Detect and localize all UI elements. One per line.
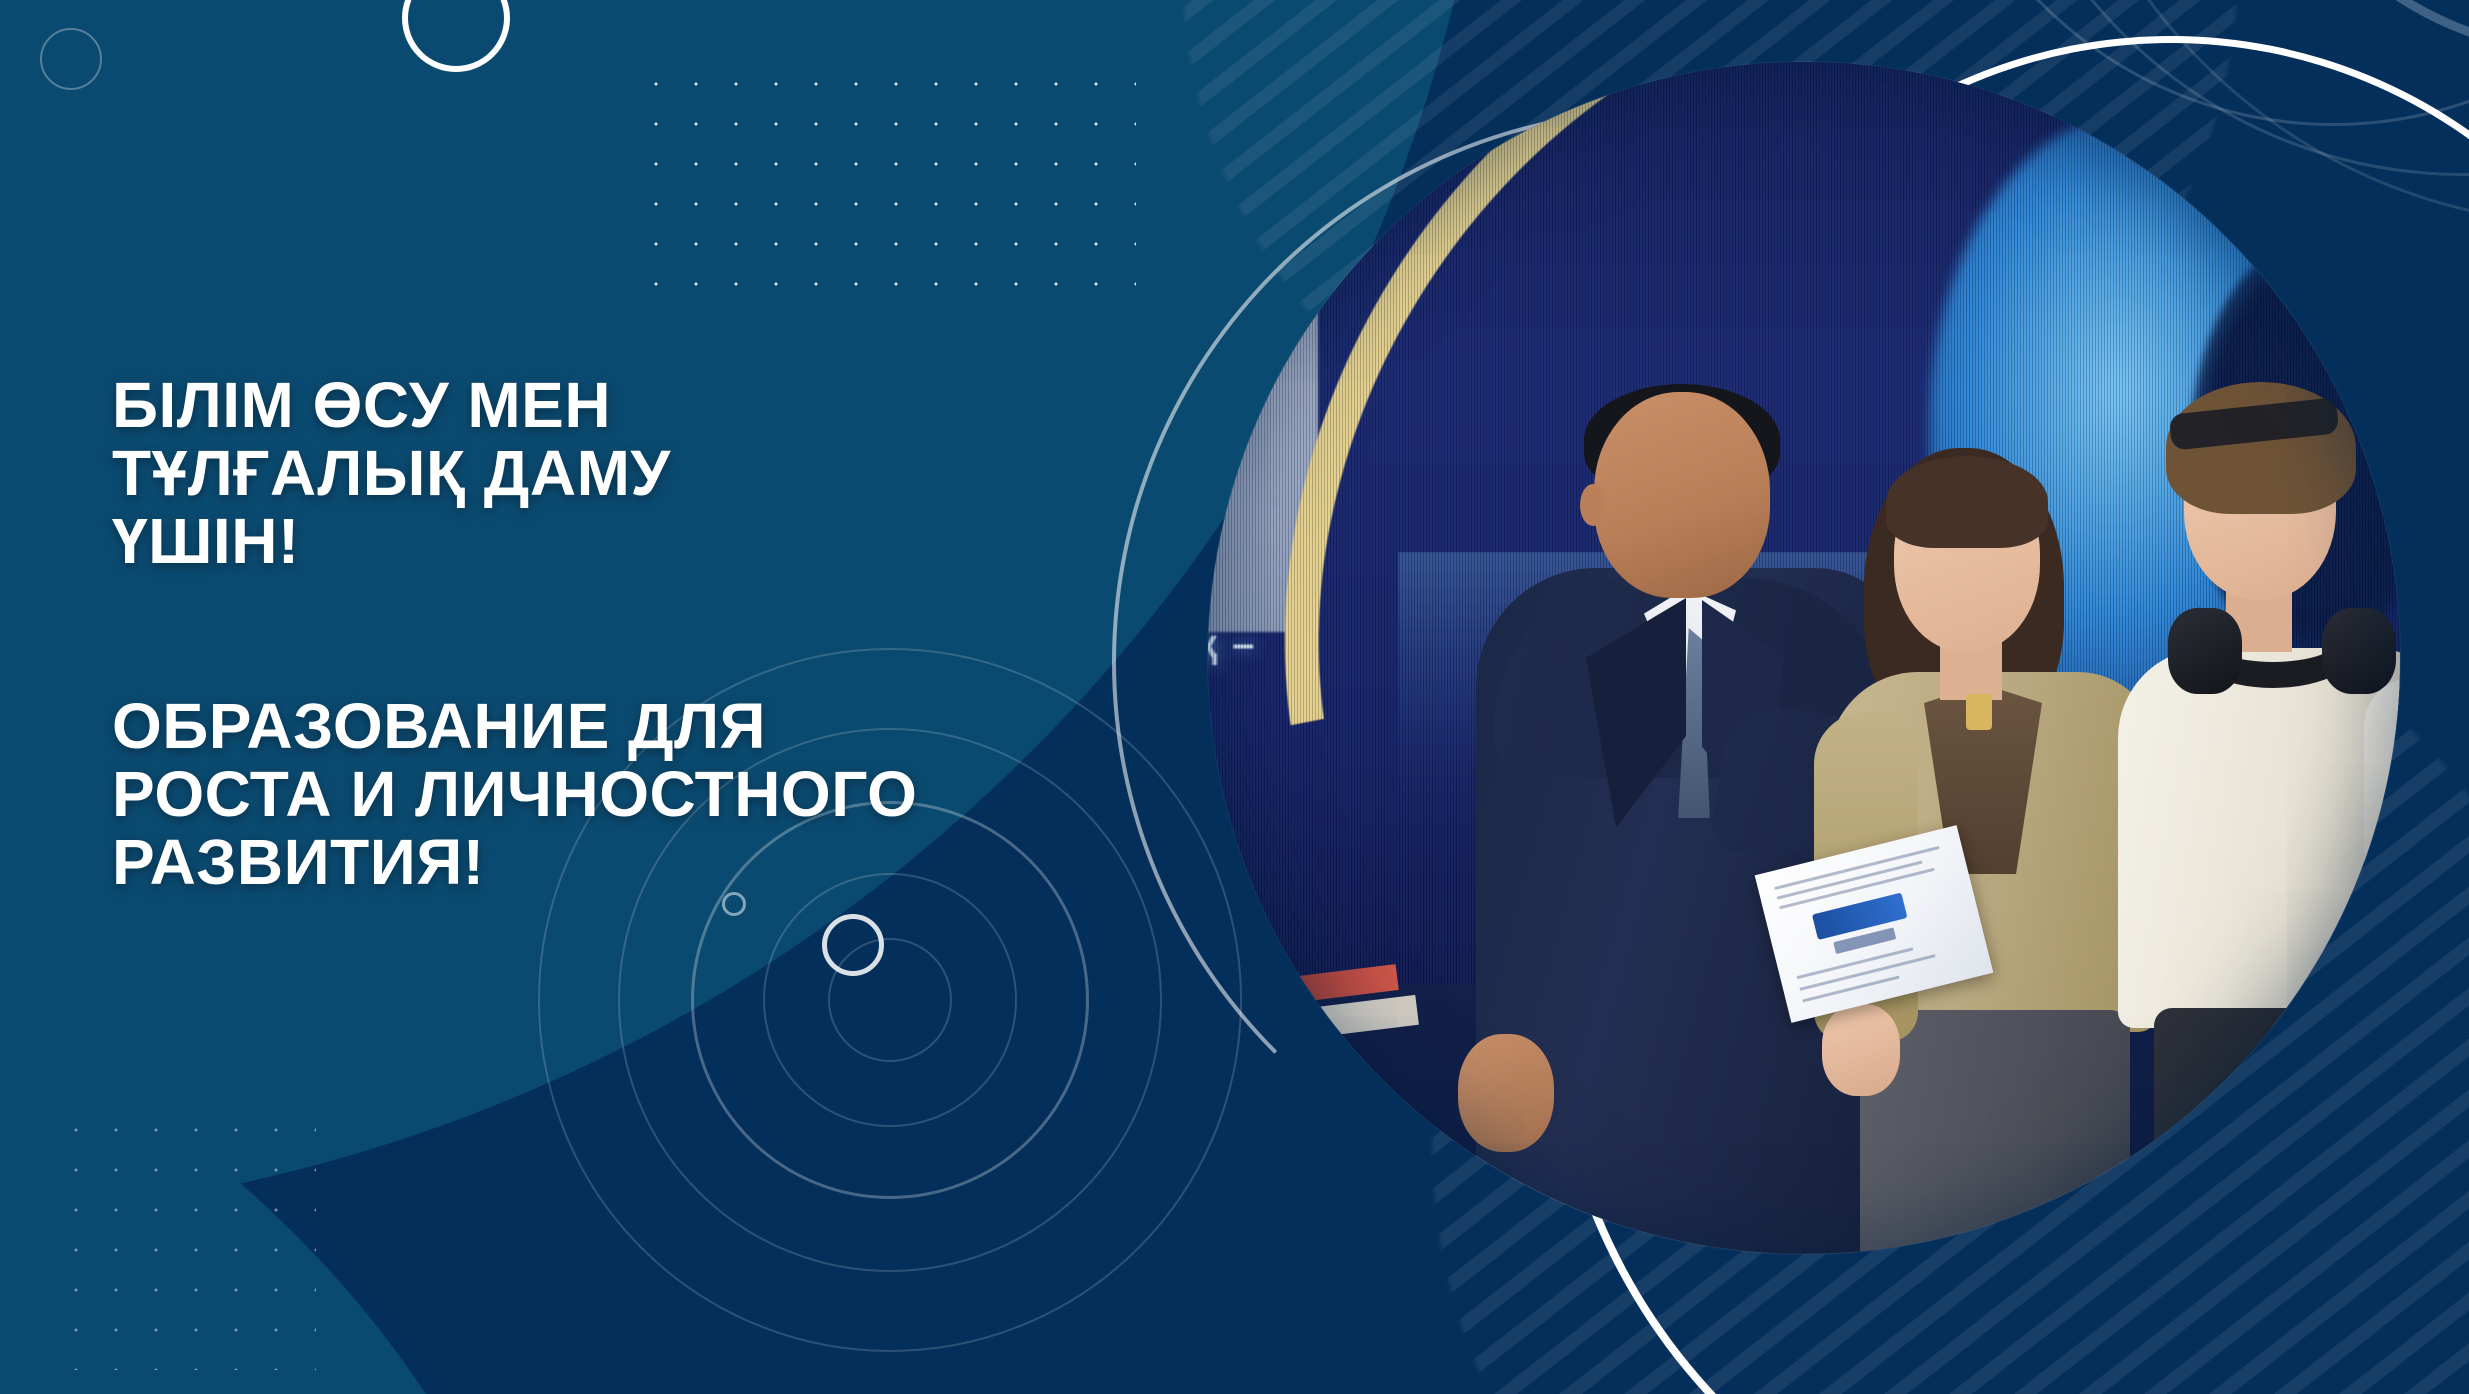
event-photo: ІРІ РНИР олық – не іс» [1208, 62, 2400, 1254]
headphone-earcup-right-icon [2322, 608, 2396, 694]
headline-kazakh-line-2: ТҰЛҒАЛЫҚ ДАМУ [112, 440, 1292, 508]
headphone-earcup-left-icon [2168, 608, 2242, 694]
woman-hand [1822, 1004, 1900, 1096]
man-arm [2364, 678, 2400, 1038]
banner-canvas: ІРІ РНИР олық – не іс» [0, 0, 2469, 1394]
led-screen-cyan-text: РНИР [1208, 298, 1278, 369]
man-sweater [2118, 648, 2400, 1028]
dot-grid-pattern-bottom-icon [56, 1110, 316, 1370]
headline-russian-line-1: ОБРАЗОВАНИЕ ДЛЯ [112, 693, 1292, 761]
headline-russian-line-2: РОСТА И ЛИЧНОСТНОГО [112, 761, 1292, 829]
man-trousers [2154, 1008, 2400, 1254]
woman-hair-top [1886, 456, 2048, 548]
woman-pendant [1966, 694, 1992, 730]
headline-block: БІЛІМ ӨСУ МЕН ТҰЛҒАЛЫҚ ДАМУ ҮШІН! ОБРАЗО… [112, 372, 1292, 897]
official-ear [1580, 484, 1606, 526]
small-circle-outline-icon [822, 914, 884, 976]
official-head [1594, 392, 1770, 598]
headline-kazakh: БІЛІМ ӨСУ МЕН ТҰЛҒАЛЫҚ ДАМУ ҮШІН! [112, 372, 1292, 575]
official-other-hand [1458, 1034, 1554, 1152]
headline-kazakh-line-3: ҮШІН! [112, 508, 1292, 576]
headline-russian: ОБРАЗОВАНИЕ ДЛЯ РОСТА И ЛИЧНОСТНОГО РАЗВ… [112, 693, 1292, 896]
dot-grid-pattern-top-icon [636, 64, 1136, 314]
person-young-man-with-headphones [2114, 382, 2400, 1254]
photo-circle: ІРІ РНИР олық – не іс» [1208, 62, 2400, 1254]
headline-kazakh-line-1: БІЛІМ ӨСУ МЕН [112, 372, 1292, 440]
led-screen-gold-text: ІРІ [1208, 182, 1210, 253]
woman-jeans [1860, 1010, 2130, 1254]
circle-outline-icon [40, 28, 102, 90]
headline-russian-line-3: РАЗВИТИЯ! [112, 829, 1292, 897]
